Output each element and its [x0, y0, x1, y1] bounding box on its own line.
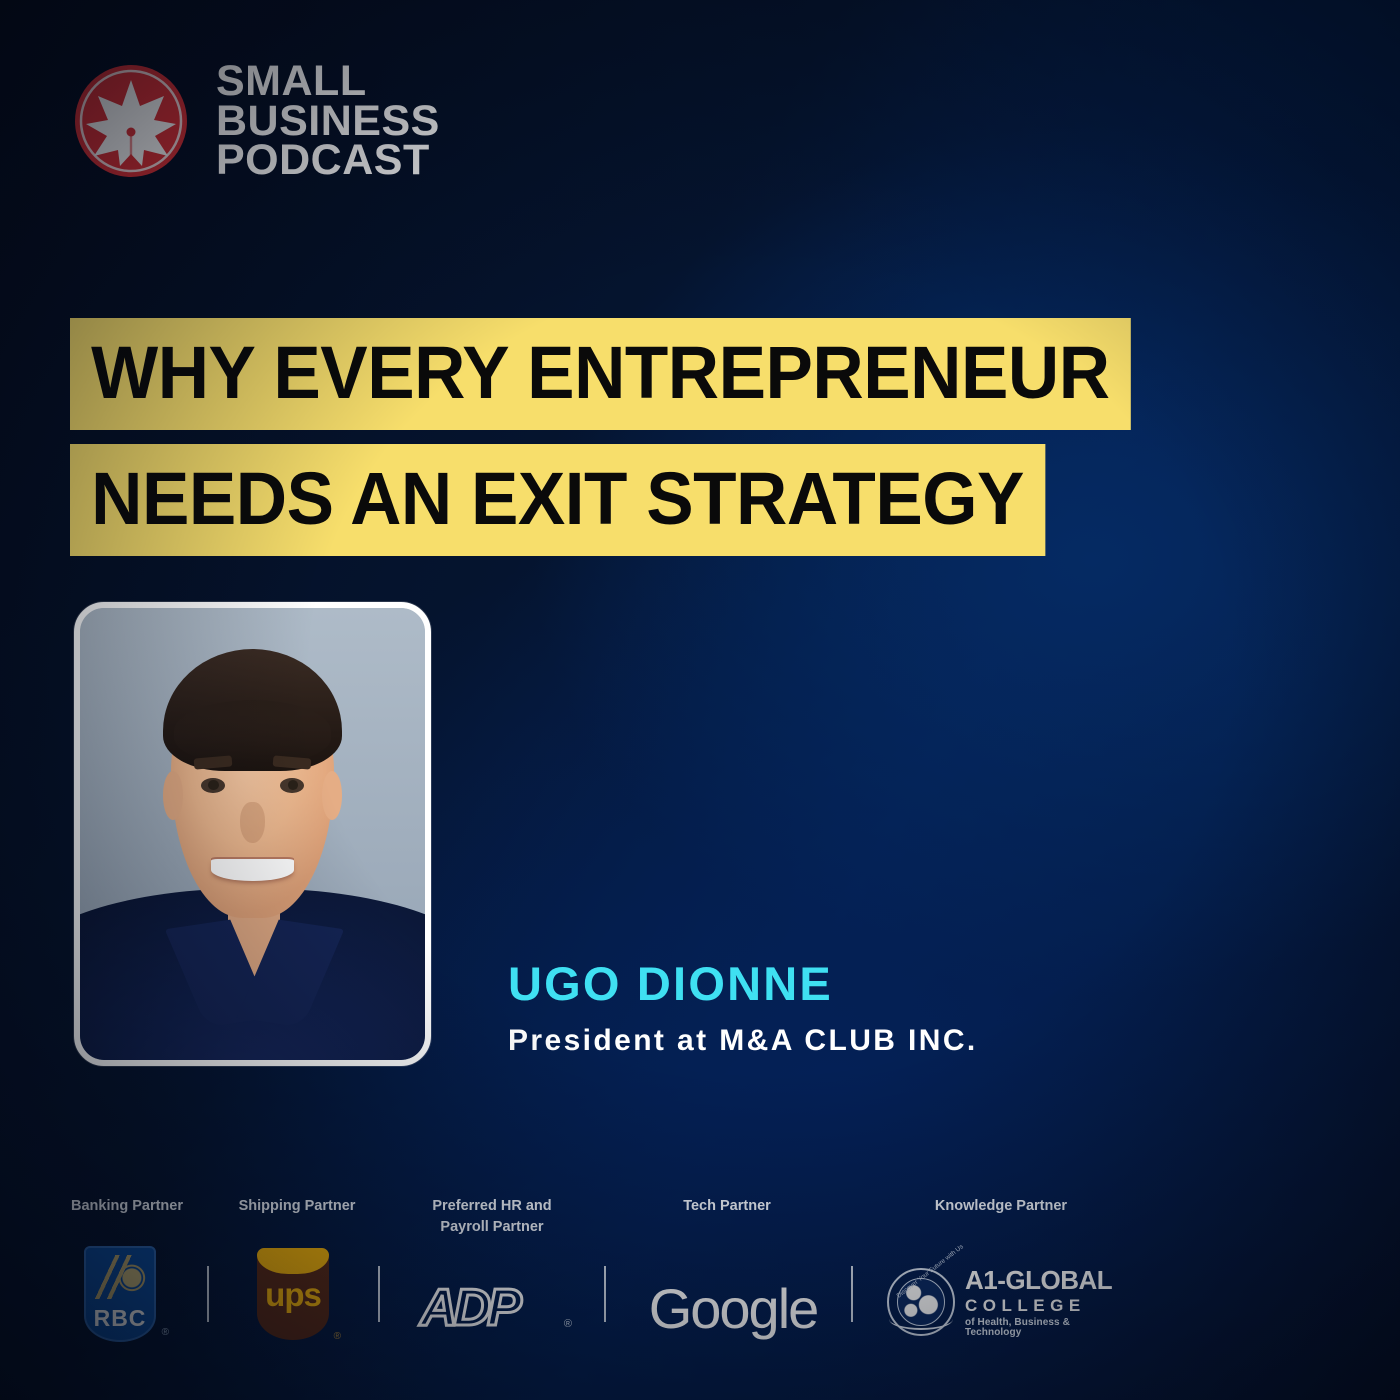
partner-logo-a1-global-college[interactable]: Discover Your Future with Us A1-GLOBAL C…	[885, 1252, 1115, 1352]
partner-divider-2	[378, 1266, 380, 1322]
globe-microtext: Discover Your Future with Us	[896, 1243, 965, 1299]
rbc-registered-mark: ®	[162, 1327, 169, 1338]
partner-logo-ups[interactable]: ups ®	[257, 1244, 329, 1344]
rbc-crest-icon	[93, 1255, 147, 1299]
guest-name: UGO DIONNE	[508, 958, 978, 1010]
google-wordmark: Google	[649, 1276, 818, 1341]
partner-labels: Banking Partner Shipping Partner Preferr…	[0, 1196, 1400, 1244]
title-line-2: NEEDS AN EXIT STRATEGY	[70, 444, 1045, 556]
guest-photo-image	[80, 608, 425, 1060]
title-line-1: WHY EVERY ENTREPRENEUR	[70, 318, 1131, 430]
ups-registered-mark: ®	[334, 1331, 341, 1342]
episode-title: WHY EVERY ENTREPRENEUR NEEDS AN EXIT STR…	[70, 318, 1175, 556]
partner-logos: RBC ® ups ® ADP ®	[0, 1244, 1400, 1364]
partner-label-tech: Tech Partner	[683, 1196, 771, 1217]
partner-label-hr-payroll: Preferred HR and Payroll Partner	[432, 1196, 551, 1238]
adp-registered-mark: ®	[564, 1318, 572, 1330]
a1-wordmark-tagline: of Health, Business & Technology	[965, 1318, 1115, 1338]
partner-label-banking: Banking Partner	[71, 1196, 183, 1217]
guest-photo	[74, 602, 431, 1066]
brand-lockup: SMALL BUSINESS PODCAST	[72, 62, 440, 181]
guest-role: President at M&A CLUB INC.	[508, 1024, 978, 1058]
maple-leaf-icon	[72, 62, 190, 180]
podcast-cover: SMALL BUSINESS PODCAST WHY EVERY ENTREPR…	[0, 0, 1400, 1400]
guest-info: UGO DIONNE President at M&A CLUB INC.	[508, 958, 978, 1058]
brand-line-3: PODCAST	[216, 141, 440, 181]
adp-wordmark: ADP	[420, 1278, 518, 1338]
a1-wordmark-line-2: COLLEGE	[965, 1297, 1115, 1314]
partner-divider-3	[604, 1266, 606, 1322]
brand-wordmark: SMALL BUSINESS PODCAST	[216, 62, 440, 181]
a1-wordmark-line-1: A1-GLOBAL	[965, 1267, 1115, 1293]
brand-line-1: SMALL	[216, 62, 440, 102]
rbc-wordmark: RBC	[84, 1305, 156, 1332]
partners-section: Banking Partner Shipping Partner Preferr…	[0, 1196, 1400, 1364]
partner-logo-adp[interactable]: ADP ®	[420, 1258, 568, 1358]
partner-logo-google[interactable]: Google	[649, 1258, 818, 1358]
partner-label-knowledge: Knowledge Partner	[935, 1196, 1067, 1217]
partner-label-shipping: Shipping Partner	[239, 1196, 356, 1217]
partner-divider-1	[207, 1266, 209, 1322]
partner-divider-4	[851, 1266, 853, 1322]
globe-icon: Discover Your Future with Us	[885, 1266, 957, 1338]
ups-wordmark: ups	[257, 1276, 329, 1314]
partner-logo-rbc[interactable]: RBC ®	[84, 1244, 156, 1344]
